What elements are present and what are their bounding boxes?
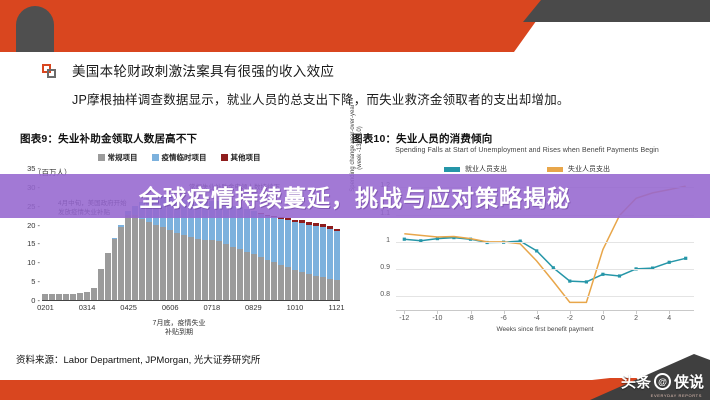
bar-seg [327, 279, 333, 300]
bar-0905 [258, 213, 264, 300]
bar-seg [334, 231, 340, 280]
y-tick-0.9: 0.9 [370, 264, 390, 271]
legend-item-0: 就业人员支出 [444, 164, 507, 174]
watermark-right: 侠说 [674, 371, 704, 392]
bar-0404 [105, 253, 111, 300]
bar-seg [216, 241, 222, 300]
y-tick-10: 10 [18, 258, 40, 267]
x-tick-2: 2 [634, 315, 638, 322]
bar-1114 [327, 226, 333, 300]
legend-swatch [152, 154, 159, 161]
legend-label: 其他项目 [231, 152, 261, 163]
bar-0808 [230, 206, 236, 300]
bar-seg [174, 233, 180, 301]
bar-seg [292, 270, 298, 300]
bar-0829 [251, 211, 257, 300]
y-tick-1: 1 [370, 237, 390, 244]
bar-0208 [49, 294, 55, 300]
y-tick-0.8: 0.8 [370, 291, 390, 298]
bar-seg [105, 253, 111, 300]
x-tick-mark [504, 310, 505, 314]
x-tick--10: -10 [432, 315, 442, 322]
legend-swatch [221, 154, 228, 161]
bar-seg [160, 227, 166, 300]
bar-seg [334, 280, 340, 300]
x-tick-0829: 0829 [245, 303, 262, 312]
x-tick-mark [603, 310, 604, 314]
bar-seg [188, 237, 194, 300]
x-tick--12: -12 [399, 315, 409, 322]
bar-seg [125, 215, 131, 300]
bar-0815 [237, 207, 243, 300]
x-tick-0606: 0606 [162, 303, 179, 312]
bar-seg [258, 257, 264, 300]
legend-label: 常规项目 [108, 152, 138, 163]
bar-seg [223, 244, 229, 300]
bar-0926 [278, 217, 284, 300]
bar-0418 [118, 225, 124, 300]
bar-seg [118, 227, 124, 300]
x-tick-mark [669, 310, 670, 314]
bar-seg [167, 230, 173, 300]
y-tick-5: 5 [18, 277, 40, 286]
bar-1107 [320, 224, 326, 300]
bar-1121 [334, 229, 340, 300]
bar-seg [278, 265, 284, 300]
bar-seg [313, 226, 319, 276]
header-title: 美国本轮财政刺激法案具有很强的收入效应 [72, 60, 672, 80]
bar-seg [91, 288, 97, 300]
y-tick-15: 15 [18, 239, 40, 248]
legend-label: 疫情临时项目 [162, 152, 207, 163]
gridline [396, 269, 694, 270]
bar-seg [244, 252, 250, 300]
bar-seg [306, 274, 312, 300]
figure-10-subtitle: Spending Falls at Start of Unemployment … [352, 147, 702, 154]
x-tick-0718: 0718 [203, 303, 220, 312]
figure-10-title: 图表10：失业人员的消费倾向 [352, 131, 492, 146]
bar-seg [271, 217, 277, 262]
overlay-banner-text: 全球疫情持续蔓延，挑战与应对策略揭秘 [0, 176, 710, 216]
bar-seg [63, 294, 69, 300]
legend-swatch [547, 167, 563, 172]
figure-9-legend: 常规项目疫情临时项目其他项目 [14, 152, 344, 163]
bar-0502 [132, 206, 138, 300]
series-marker [585, 280, 588, 283]
x-tick-1010: 1010 [287, 303, 304, 312]
series-marker [601, 273, 604, 276]
x-tick-0425: 0425 [120, 303, 137, 312]
x-tick-1121: 1121 [328, 303, 344, 312]
bar-seg [285, 220, 291, 267]
bar-seg [209, 240, 215, 300]
x-tick-mark [570, 310, 571, 314]
x-tick--2: -2 [567, 315, 573, 322]
figure-10-legend: 就业人员支出失业人员支出 [352, 164, 702, 174]
bar-seg [70, 294, 76, 300]
series-line-0 [404, 238, 685, 282]
bar-seg [265, 216, 271, 261]
bar-seg [49, 294, 55, 300]
series-marker [668, 261, 671, 264]
legend-swatch [444, 167, 460, 172]
top-dark-band [523, 0, 710, 22]
x-tick-0314: 0314 [79, 303, 96, 312]
x-tick-0201: 0201 [37, 303, 54, 312]
double-square-icon [42, 64, 56, 78]
bar-1010 [292, 220, 298, 300]
bar-seg [237, 249, 243, 300]
slide-canvas: 美国本轮财政刺激法案具有很强的收入效应 JP摩根抽样调查数据显示，就业人员的总支… [0, 0, 710, 400]
bar-0321 [91, 288, 97, 300]
figure-9-title: 图表9：失业补助金领取人数居高不下 [20, 131, 197, 146]
watermark-left: 头条 [621, 371, 651, 392]
x-tick-mark [437, 310, 438, 314]
at-circle-icon: @ [654, 373, 671, 390]
bar-seg [230, 247, 236, 300]
bar-0201 [42, 294, 48, 300]
x-tick--8: -8 [467, 315, 473, 322]
bar-seg [77, 293, 83, 300]
legend-label: 失业人员支出 [568, 164, 610, 174]
bar-1003 [285, 218, 291, 300]
bar-seg [146, 222, 152, 300]
bar-seg [299, 272, 305, 300]
bar-0912 [265, 215, 271, 300]
bar-seg [42, 294, 48, 300]
bar-seg [84, 292, 90, 300]
legend-item-1: 失业人员支出 [547, 164, 610, 174]
bar-0919 [271, 216, 277, 300]
figure-9-xaxis: 02010314042506060718082910101121 [42, 303, 340, 317]
bar-seg [313, 276, 319, 301]
legend-label: 就业人员支出 [465, 164, 507, 174]
x-tick-mark [404, 310, 405, 314]
bar-0822 [244, 209, 250, 300]
bar-seg [56, 294, 62, 300]
bar-seg [202, 240, 208, 300]
x-tick-4: 4 [667, 315, 671, 322]
bar-seg [181, 235, 187, 300]
bar-seg [112, 239, 118, 300]
legend-item-2: 其他项目 [221, 152, 261, 163]
bar-1031 [313, 223, 319, 300]
bar-0229 [70, 294, 76, 300]
bar-seg [306, 225, 312, 274]
arch-shape [16, 6, 54, 52]
watermark-subtext: EVERYDAY REPORTS [651, 393, 702, 398]
bar-0222 [63, 294, 69, 300]
y-tick-35: 35 [18, 164, 40, 173]
x-tick--4: -4 [534, 315, 540, 322]
x-axis-line [396, 310, 694, 311]
gridline [396, 242, 694, 243]
y-tick-20: 20 [18, 221, 40, 230]
bar-seg [327, 229, 333, 279]
bar-0425 [125, 211, 131, 300]
bar-seg [285, 267, 291, 300]
bar-seg [98, 269, 104, 300]
bar-seg [271, 262, 277, 300]
bar-seg [299, 223, 305, 272]
legend-swatch [98, 154, 105, 161]
x-tick-mark [636, 310, 637, 314]
bar-1017 [299, 220, 305, 300]
bar-0215 [56, 294, 62, 300]
watermark: 头条 @ 侠说 [621, 371, 704, 392]
series-marker [618, 274, 621, 277]
x-tick-0: 0 [601, 315, 605, 322]
bar-seg [132, 215, 138, 300]
bar-seg [195, 239, 201, 300]
bar-1024 [306, 222, 312, 300]
legend-item-1: 疫情临时项目 [152, 152, 207, 163]
bar-0411 [112, 238, 118, 300]
series-marker [684, 257, 687, 260]
series-marker [568, 280, 571, 283]
gridline [396, 296, 694, 297]
bar-seg [251, 254, 257, 300]
figure-9-xlabel: 7月底，疫情失业补贴到期 [14, 319, 344, 337]
series-marker [535, 249, 538, 252]
source-note: 资料来源：Labor Department, JPMorgan, 光大证券研究所 [16, 352, 260, 366]
bar-0307 [77, 293, 83, 300]
bar-seg [278, 219, 284, 265]
bar-seg [320, 227, 326, 278]
bar-seg [292, 222, 298, 270]
figure-10-xlabel: Weeks since first benefit payment [396, 326, 694, 333]
bar-seg [320, 277, 326, 300]
x-tick--6: -6 [500, 315, 506, 322]
bar-seg [265, 260, 271, 300]
bar-seg [153, 225, 159, 300]
x-tick-mark [471, 310, 472, 314]
bar-0314 [84, 292, 90, 300]
x-tick-mark [537, 310, 538, 314]
bar-seg [139, 219, 145, 300]
legend-item-0: 常规项目 [98, 152, 138, 163]
series-marker [403, 238, 406, 241]
bar-seg [258, 214, 264, 258]
bar-0328 [98, 269, 104, 300]
header-subtitle: JP摩根抽样调查数据显示，就业人员的总支出下降，而失业救济金领取者的支出却增加。 [72, 89, 692, 108]
